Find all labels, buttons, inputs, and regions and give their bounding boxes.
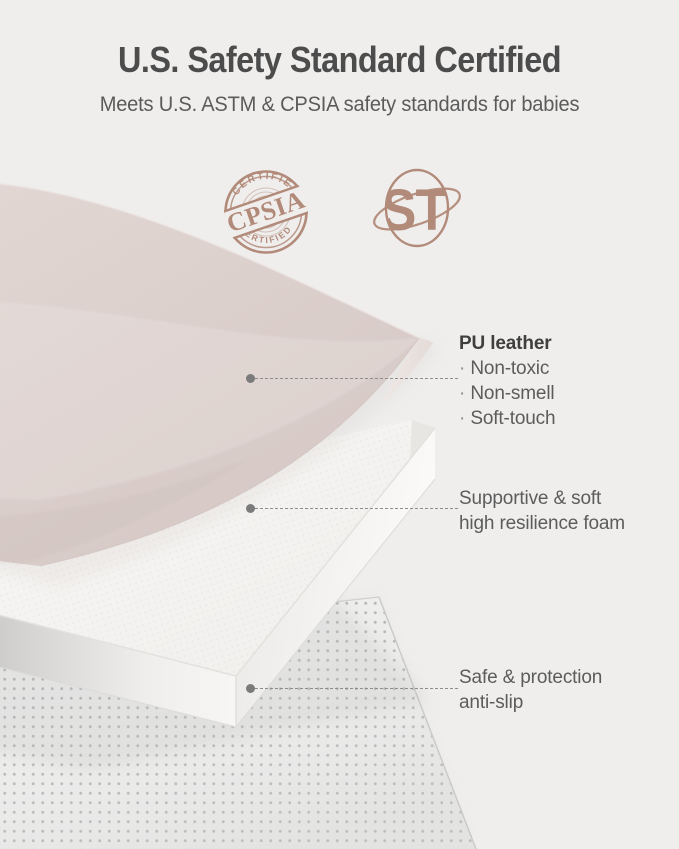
bullet-icon: · (459, 358, 465, 379)
callout-anti-slip: Safe & protection anti-slip (459, 665, 602, 715)
callout-line: Safe & protection (459, 665, 602, 690)
callout-line: Supportive & soft (459, 486, 625, 511)
astm-badge: ASTM (365, 156, 469, 260)
callout-line: high resilience foam (459, 511, 625, 536)
callout-title-pu-leather: PU leather (459, 331, 555, 356)
callout-item-soft-touch: · Soft-touch (459, 406, 555, 431)
layer-stack-illustration (0, 0, 679, 849)
callout-item-label: Non-toxic (470, 358, 549, 379)
callout-foam: Supportive & soft high resilience foam (459, 486, 625, 536)
page-title: U.S. Safety Standard Certified (34, 0, 645, 80)
callout-line: anti-slip (459, 690, 602, 715)
certification-badges: CERTIFIED CERTIFIED CPSIA (0, 152, 679, 264)
header-block: U.S. Safety Standard Certified Meets U.S… (0, 0, 679, 117)
callout-item-non-toxic: · Non-toxic (459, 356, 555, 381)
callout-item-label: Non-smell (470, 383, 554, 404)
callout-item-label: Soft-touch (470, 408, 555, 429)
callout-pu-leather: PU leather · Non-toxic · Non-smell · Sof… (459, 331, 555, 431)
page-subtitle: Meets U.S. ASTM & CPSIA safety standards… (15, 80, 663, 117)
callout-item-non-smell: · Non-smell (459, 381, 555, 406)
bullet-icon: · (459, 383, 465, 404)
cpsia-certified-badge: CERTIFIED CERTIFIED CPSIA (211, 156, 321, 260)
product-layer-infographic: U.S. Safety Standard Certified Meets U.S… (0, 0, 679, 849)
bullet-icon: · (459, 408, 465, 429)
